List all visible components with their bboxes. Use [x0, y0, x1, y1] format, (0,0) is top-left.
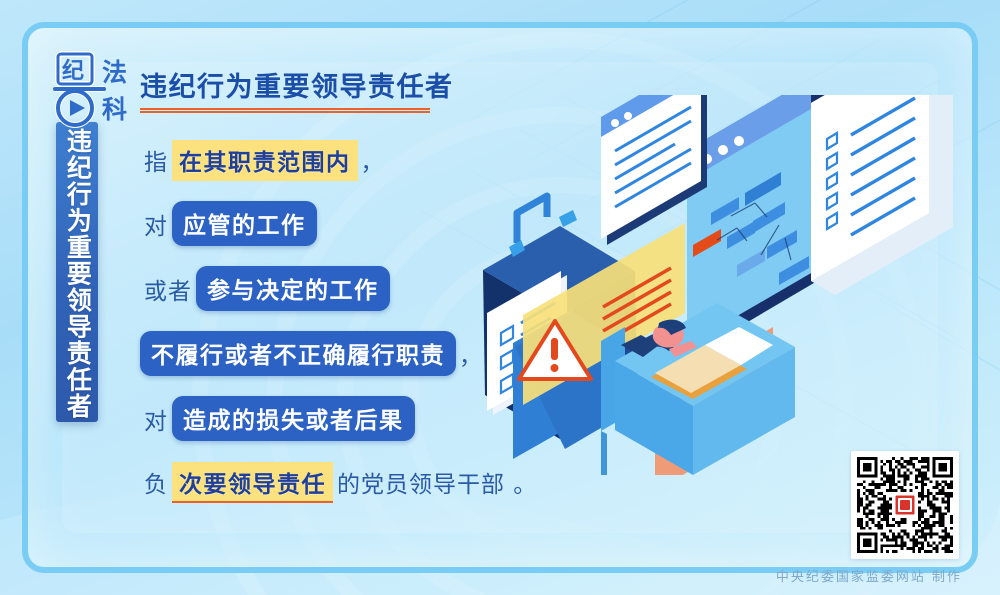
emphasis-pill: 造成的损失或者后果	[172, 396, 415, 441]
definition-line: 对造成的损失或者后果	[140, 396, 680, 441]
emphasis-pill: 参与决定的工作	[196, 266, 390, 311]
plain-text: 对	[140, 207, 172, 241]
vertical-title-text: 违纪行为重要领导责任者	[64, 128, 91, 420]
plain-text: 对	[140, 402, 172, 436]
svg-text:法: 法	[102, 58, 127, 87]
plain-text: 或者	[140, 272, 196, 306]
svg-text:纪: 纪	[62, 58, 84, 84]
plain-text: 负	[140, 465, 172, 499]
highlight-phrase: 在其职责范围内	[172, 140, 358, 181]
definition-line: 指在其职责范围内，	[140, 139, 680, 181]
qr-center-logo	[893, 493, 916, 516]
brand-logo: 纪 法 科	[52, 48, 148, 130]
emphasis-pill: 不履行或者不正确履行职责	[140, 331, 456, 376]
plain-text: ，	[456, 337, 483, 371]
definition-line: 不履行或者不正确履行职责，	[140, 331, 680, 376]
definition-line: 或者参与决定的工作	[140, 266, 680, 311]
definition-line: 负次要领导责任的党员领导干部 。	[140, 461, 680, 503]
credit-text: 中央纪委国家监委网站 制作	[776, 566, 962, 585]
plain-text: 的党员领导干部 。	[333, 465, 541, 499]
infographic-canvas: 纪 法 科 违纪行为重要领导责任者 违纪行为重要领导责任者 指在其职责范围内，对…	[0, 0, 1000, 595]
highlight-phrase: 次要领导责任	[172, 462, 333, 503]
plain-text: ，	[358, 143, 385, 177]
title-block: 违纪行为重要领导责任者	[140, 72, 680, 113]
svg-text:科: 科	[102, 95, 127, 124]
title-underline-rule	[140, 108, 430, 113]
qr-code-matrix	[857, 457, 953, 553]
emphasis-pill: 应管的工作	[172, 201, 317, 246]
page-title: 违纪行为重要领导责任者	[140, 72, 454, 104]
plain-text: 指	[140, 143, 172, 177]
text-column: 违纪行为重要领导责任者 指在其职责范围内，对应管的工作或者参与决定的工作不履行或…	[140, 72, 680, 523]
definition-lines: 指在其职责范围内，对应管的工作或者参与决定的工作不履行或者不正确履行职责，对造成…	[140, 139, 680, 503]
definition-line: 对应管的工作	[140, 201, 680, 246]
checklist-sheet	[811, 95, 953, 295]
qr-code[interactable]	[851, 451, 959, 559]
vertical-title-banner: 违纪行为重要领导责任者	[56, 122, 98, 422]
